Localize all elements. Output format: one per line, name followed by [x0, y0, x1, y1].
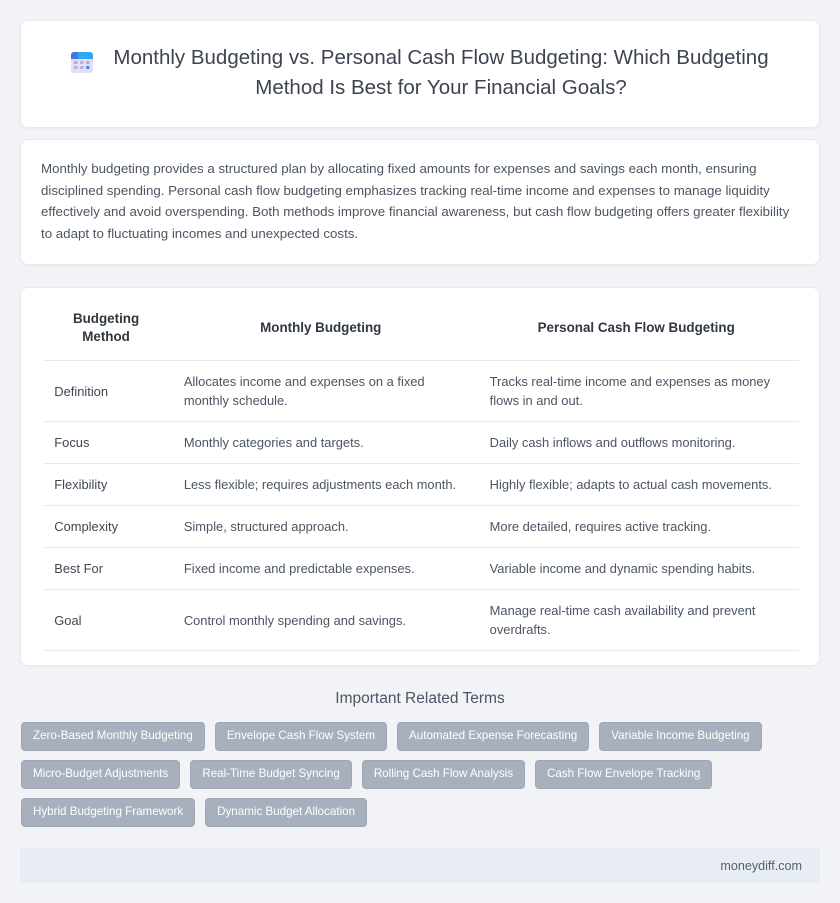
related-term-tag[interactable]: Variable Income Budgeting [599, 722, 761, 751]
row-spacer-right [799, 361, 819, 422]
row-spacer-left [21, 464, 44, 506]
cell-cashflow: Variable income and dynamic spending hab… [474, 548, 799, 590]
row-spacer-left [21, 506, 44, 548]
row-spacer-left [21, 548, 44, 590]
cell-monthly: Monthly categories and targets. [168, 422, 474, 464]
related-term-tag[interactable]: Real-Time Budget Syncing [190, 760, 351, 789]
cell-attribute: Goal [44, 590, 168, 651]
cell-monthly: Less flexible; requires adjustments each… [168, 464, 474, 506]
table-header: Budgeting Method Monthly Budgeting Perso… [21, 302, 819, 361]
page-root: Monthly Budgeting vs. Personal Cash Flow… [0, 0, 840, 903]
table-row: Complexity Simple, structured approach. … [21, 506, 819, 548]
table-row: Flexibility Less flexible; requires adju… [21, 464, 819, 506]
related-term-tag[interactable]: Zero-Based Monthly Budgeting [21, 722, 205, 751]
table-spacer-right [799, 302, 819, 361]
cell-monthly: Simple, structured approach. [168, 506, 474, 548]
cell-monthly: Allocates income and expenses on a fixed… [168, 361, 474, 422]
summary-text: Monthly budgeting provides a structured … [41, 158, 799, 244]
cell-attribute: Focus [44, 422, 168, 464]
summary-card: Monthly budgeting provides a structured … [20, 139, 820, 265]
comparison-table-card: Budgeting Method Monthly Budgeting Perso… [20, 287, 820, 666]
column-header-attribute: Budgeting Method [44, 302, 168, 361]
table-row: Goal Control monthly spending and saving… [21, 590, 819, 651]
cell-cashflow: Highly flexible; adapts to actual cash m… [474, 464, 799, 506]
cell-monthly: Fixed income and predictable expenses. [168, 548, 474, 590]
cell-cashflow: Tracks real-time income and expenses as … [474, 361, 799, 422]
related-terms-list: Zero-Based Monthly Budgeting Envelope Ca… [20, 722, 820, 827]
footer: moneydiff.com [20, 848, 820, 883]
column-header-personal-cash-flow-budgeting: Personal Cash Flow Budgeting [474, 302, 799, 361]
column-header-monthly-budgeting: Monthly Budgeting [168, 302, 474, 361]
cell-attribute: Flexibility [44, 464, 168, 506]
related-term-tag[interactable]: Automated Expense Forecasting [397, 722, 589, 751]
calendar-icon [69, 49, 95, 77]
table-header-row: Budgeting Method Monthly Budgeting Perso… [21, 302, 819, 361]
related-term-tag[interactable]: Dynamic Budget Allocation [205, 798, 367, 827]
related-term-tag[interactable]: Hybrid Budgeting Framework [21, 798, 195, 827]
row-spacer-left [21, 422, 44, 464]
row-spacer-right [799, 506, 819, 548]
cell-attribute: Best For [44, 548, 168, 590]
table-body: Definition Allocates income and expenses… [21, 361, 819, 651]
row-spacer-right [799, 422, 819, 464]
table-row: Best For Fixed income and predictable ex… [21, 548, 819, 590]
table-spacer-left [21, 302, 44, 361]
related-term-tag[interactable]: Micro-Budget Adjustments [21, 760, 180, 789]
cell-cashflow: Manage real-time cash availability and p… [474, 590, 799, 651]
row-spacer-right [799, 590, 819, 651]
footer-site-name: moneydiff.com [720, 859, 802, 873]
related-terms-heading: Important Related Terms [20, 690, 820, 708]
cell-cashflow: More detailed, requires active tracking. [474, 506, 799, 548]
comparison-table: Budgeting Method Monthly Budgeting Perso… [21, 302, 819, 651]
page-title: Monthly Budgeting vs. Personal Cash Flow… [111, 43, 771, 103]
row-spacer-right [799, 464, 819, 506]
row-spacer-right [799, 548, 819, 590]
row-spacer-left [21, 361, 44, 422]
table-row: Focus Monthly categories and targets. Da… [21, 422, 819, 464]
cell-monthly: Control monthly spending and savings. [168, 590, 474, 651]
cell-attribute: Definition [44, 361, 168, 422]
related-term-tag[interactable]: Rolling Cash Flow Analysis [362, 760, 525, 789]
row-spacer-left [21, 590, 44, 651]
related-term-tag[interactable]: Envelope Cash Flow System [215, 722, 387, 751]
related-term-tag[interactable]: Cash Flow Envelope Tracking [535, 760, 712, 789]
cell-attribute: Complexity [44, 506, 168, 548]
table-row: Definition Allocates income and expenses… [21, 361, 819, 422]
header-card: Monthly Budgeting vs. Personal Cash Flow… [20, 20, 820, 128]
cell-cashflow: Daily cash inflows and outflows monitori… [474, 422, 799, 464]
